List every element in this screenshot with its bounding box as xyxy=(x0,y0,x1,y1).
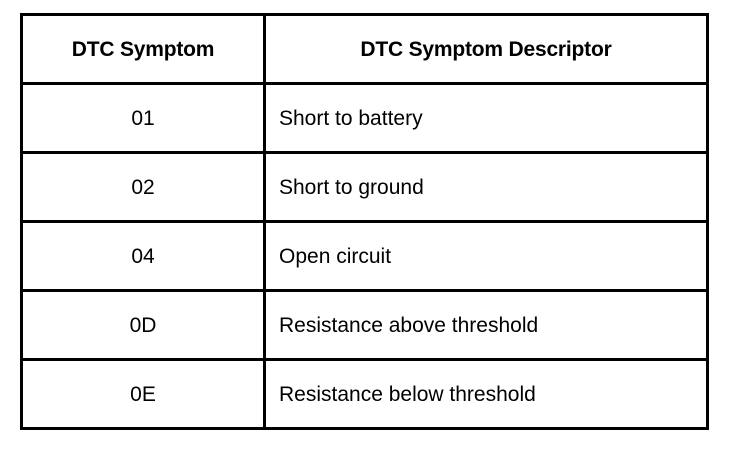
table-row: 0D Resistance above threshold xyxy=(22,291,708,360)
cell-descriptor-value: Resistance below threshold xyxy=(279,384,706,405)
cell-descriptor: Short to battery xyxy=(265,84,708,153)
dtc-symptom-table: DTC Symptom DTC Symptom Descriptor 01 Sh… xyxy=(20,13,709,430)
page-canvas: DTC Symptom DTC Symptom Descriptor 01 Sh… xyxy=(0,0,752,472)
column-header-dtc-symptom-label: DTC Symptom xyxy=(23,39,263,60)
table-header: DTC Symptom DTC Symptom Descriptor xyxy=(22,15,708,84)
cell-descriptor-value: Short to battery xyxy=(279,108,706,129)
column-header-dtc-symptom-descriptor: DTC Symptom Descriptor xyxy=(265,15,708,84)
table-row: 04 Open circuit xyxy=(22,222,708,291)
cell-symptom: 0E xyxy=(22,360,265,429)
cell-descriptor: Short to ground xyxy=(265,153,708,222)
cell-descriptor: Resistance below threshold xyxy=(265,360,708,429)
column-header-dtc-symptom-descriptor-label: DTC Symptom Descriptor xyxy=(266,39,706,60)
cell-symptom-value: 04 xyxy=(23,246,263,267)
cell-symptom-value: 01 xyxy=(23,108,263,129)
cell-symptom-value: 0E xyxy=(23,384,263,405)
cell-descriptor-value: Open circuit xyxy=(279,246,706,267)
cell-symptom: 04 xyxy=(22,222,265,291)
cell-symptom: 0D xyxy=(22,291,265,360)
table-header-row: DTC Symptom DTC Symptom Descriptor xyxy=(22,15,708,84)
cell-symptom-value: 0D xyxy=(23,315,263,336)
cell-symptom: 02 xyxy=(22,153,265,222)
cell-descriptor: Open circuit xyxy=(265,222,708,291)
cell-descriptor-value: Resistance above threshold xyxy=(279,315,706,336)
column-header-dtc-symptom: DTC Symptom xyxy=(22,15,265,84)
cell-symptom: 01 xyxy=(22,84,265,153)
table-row: 0E Resistance below threshold xyxy=(22,360,708,429)
cell-descriptor-value: Short to ground xyxy=(279,177,706,198)
table-body: 01 Short to battery 02 Short to ground 0… xyxy=(22,84,708,429)
cell-symptom-value: 02 xyxy=(23,177,263,198)
cell-descriptor: Resistance above threshold xyxy=(265,291,708,360)
table-row: 02 Short to ground xyxy=(22,153,708,222)
table-row: 01 Short to battery xyxy=(22,84,708,153)
